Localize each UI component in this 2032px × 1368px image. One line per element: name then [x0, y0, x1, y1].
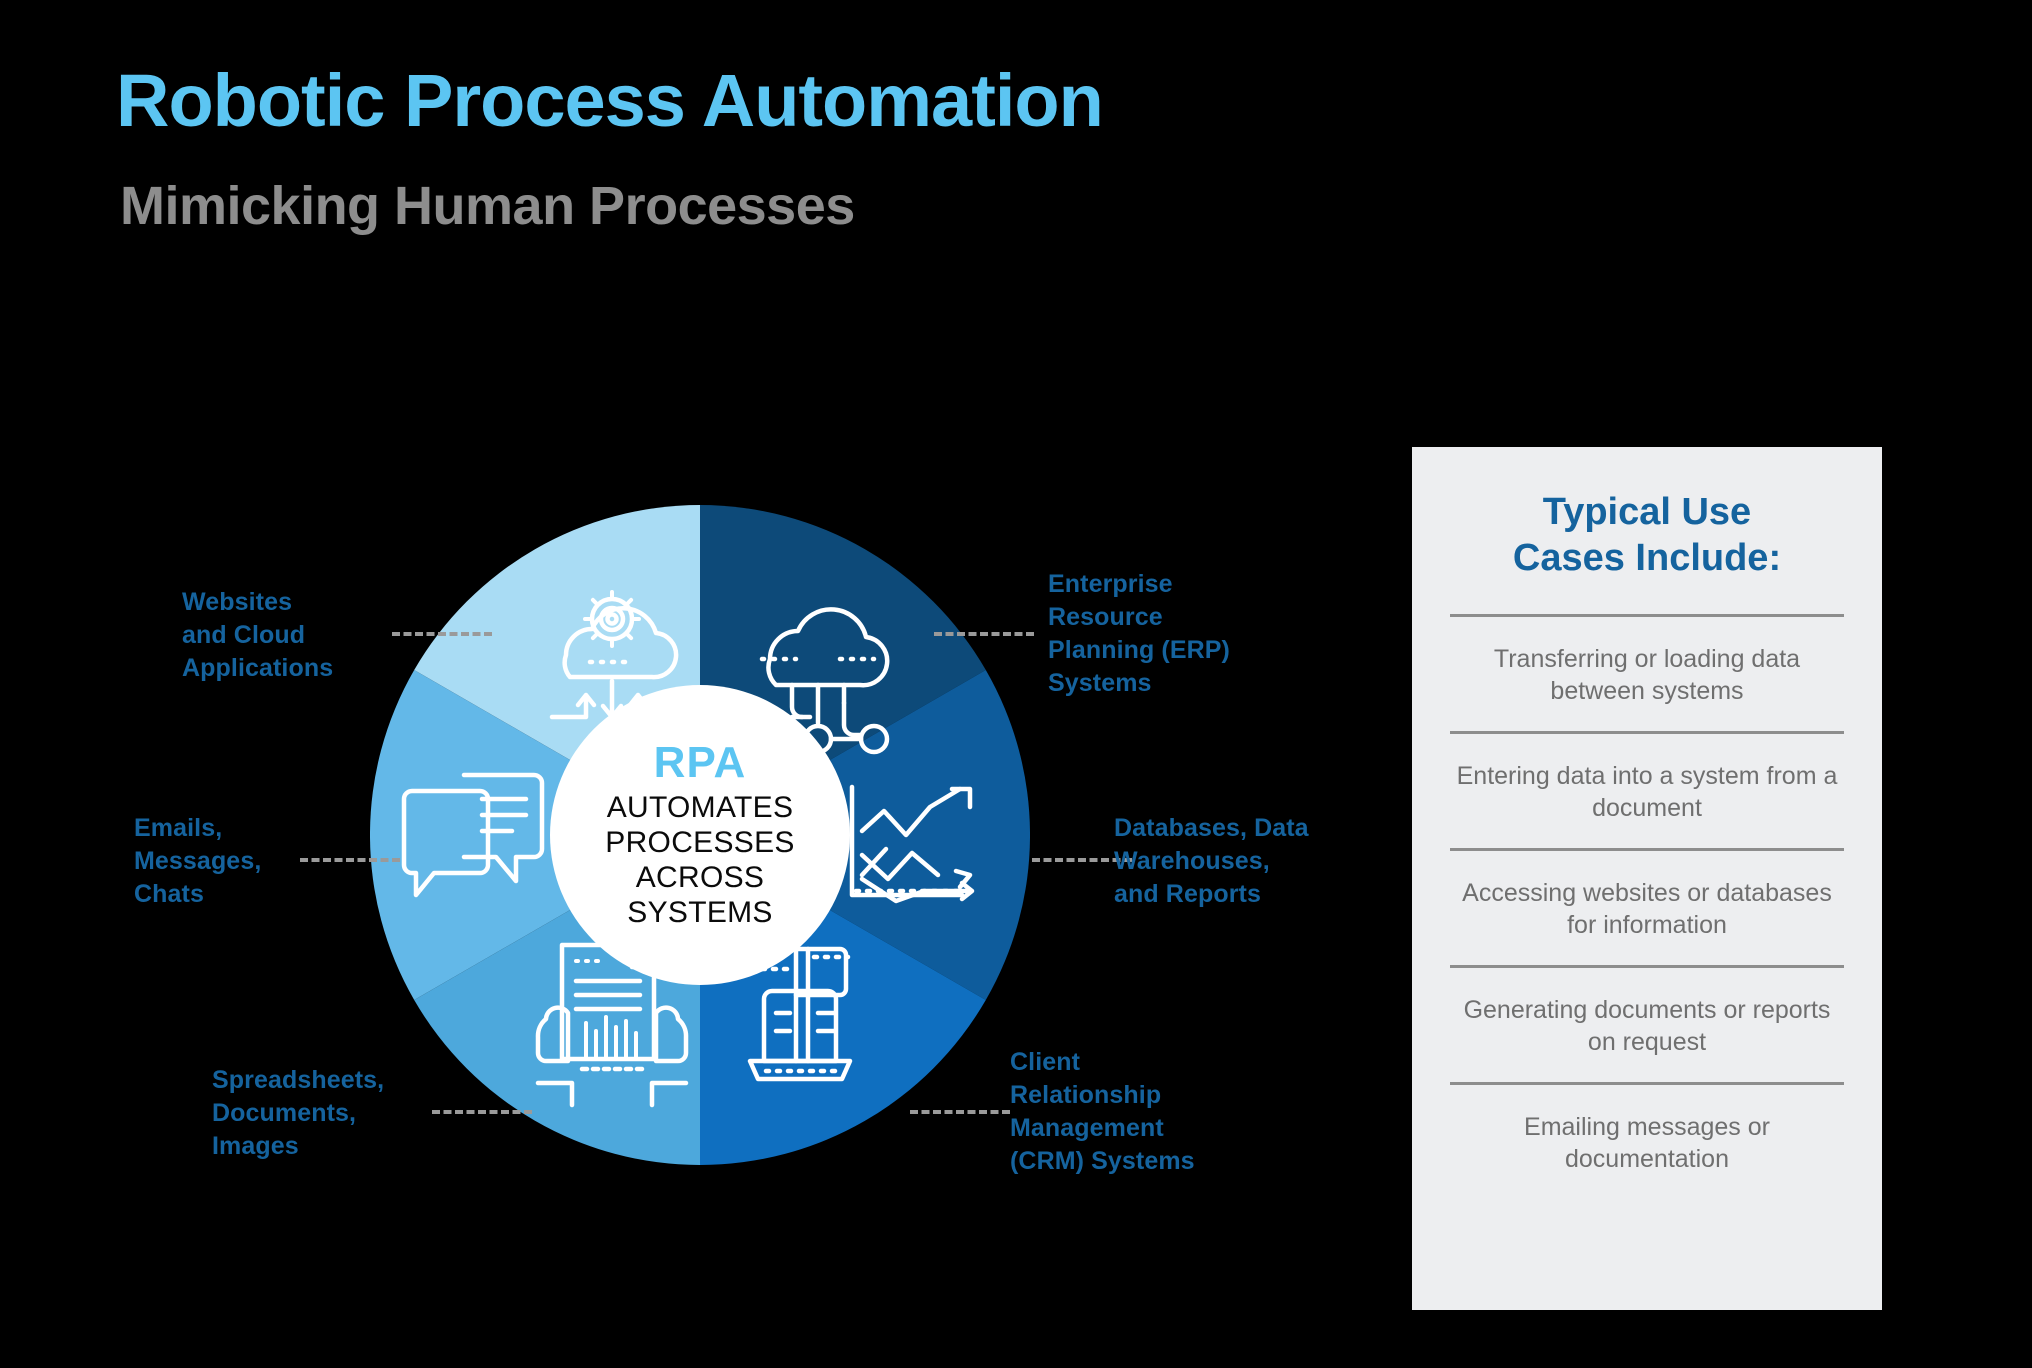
use-cases-panel: Typical Use Cases Include: Transferring … — [1412, 447, 1882, 1310]
label-spreadsheets-line-3: Images — [212, 1130, 432, 1163]
label-websites-line-2: and Cloud — [182, 619, 382, 652]
label-websites[interactable]: Websites and Cloud Applications — [182, 586, 382, 685]
hub-line-1: AUTOMATES — [605, 790, 794, 825]
label-websites-line-3: Applications — [182, 652, 382, 685]
connector-spreadsheets — [432, 1110, 532, 1114]
list-item: Entering data into a system from a docum… — [1450, 731, 1844, 848]
infographic-page: Robotic Process Automation Mimicking Hum… — [0, 0, 2032, 1368]
connector-erp — [934, 632, 1034, 636]
hub-title: RPA — [654, 740, 747, 786]
label-crm-line-4: (CRM) Systems — [1010, 1145, 1270, 1178]
label-erp-line-2: Resource — [1048, 601, 1298, 634]
label-databases[interactable]: Databases, Data Warehouses, and Reports — [1114, 812, 1374, 911]
hub-line-2: PROCESSES — [605, 825, 794, 860]
label-crm[interactable]: Client Relationship Management (CRM) Sys… — [1010, 1046, 1270, 1178]
hub-subtitle: AUTOMATES PROCESSES ACROSS SYSTEMS — [605, 790, 794, 930]
list-item: Accessing websites or databases for info… — [1450, 848, 1844, 965]
label-databases-line-1: Databases, Data — [1114, 812, 1374, 845]
rpa-wheel: RPA AUTOMATES PROCESSES ACROSS SYSTEMS — [370, 505, 1030, 1165]
wheel-hub: RPA AUTOMATES PROCESSES ACROSS SYSTEMS — [550, 685, 850, 985]
label-erp-line-3: Planning (ERP) — [1048, 634, 1298, 667]
label-crm-line-1: Client — [1010, 1046, 1270, 1079]
hub-line-4: SYSTEMS — [605, 895, 794, 930]
use-cases-title: Typical Use Cases Include: — [1446, 489, 1848, 582]
hub-line-3: ACROSS — [605, 860, 794, 895]
label-spreadsheets[interactable]: Spreadsheets, Documents, Images — [212, 1064, 432, 1163]
label-crm-line-3: Management — [1010, 1112, 1270, 1145]
list-item: Emailing messages or documentation — [1450, 1082, 1844, 1199]
label-emails-line-1: Emails, — [134, 812, 324, 845]
label-emails-line-3: Chats — [134, 878, 324, 911]
connector-crm — [910, 1110, 1010, 1114]
label-spreadsheets-line-1: Spreadsheets, — [212, 1064, 432, 1097]
label-erp-line-4: Systems — [1048, 667, 1298, 700]
label-spreadsheets-line-2: Documents, — [212, 1097, 432, 1130]
page-subtitle: Mimicking Human Processes — [120, 178, 855, 235]
connector-websites — [392, 632, 492, 636]
label-erp[interactable]: Enterprise Resource Planning (ERP) Syste… — [1048, 568, 1298, 700]
label-databases-line-2: Warehouses, — [1114, 845, 1374, 878]
label-websites-line-1: Websites — [182, 586, 382, 619]
list-item: Transferring or loading data between sys… — [1450, 614, 1844, 731]
label-emails[interactable]: Emails, Messages, Chats — [134, 812, 324, 911]
use-cases-list: Transferring or loading data between sys… — [1450, 614, 1844, 1199]
label-erp-line-1: Enterprise — [1048, 568, 1298, 601]
use-cases-title-line-2: Cases Include: — [1446, 535, 1848, 581]
label-emails-line-2: Messages, — [134, 845, 324, 878]
label-databases-line-3: and Reports — [1114, 878, 1374, 911]
label-crm-line-2: Relationship — [1010, 1079, 1270, 1112]
page-title: Robotic Process Automation — [116, 62, 1103, 140]
use-cases-title-line-1: Typical Use — [1446, 489, 1848, 535]
list-item: Generating documents or reports on reque… — [1450, 965, 1844, 1082]
